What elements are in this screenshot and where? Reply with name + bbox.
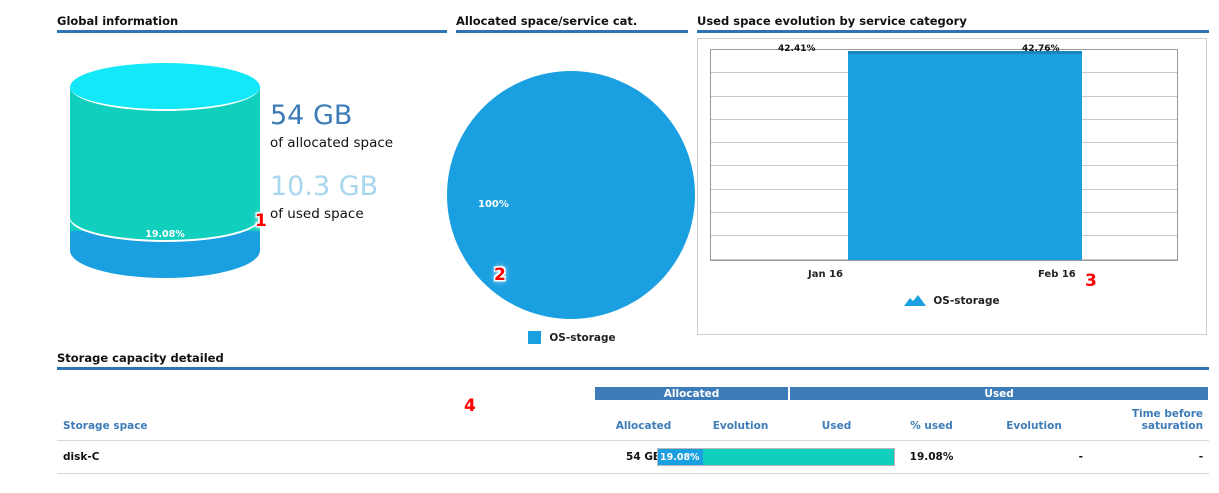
annotation-marker-4: 4 bbox=[464, 396, 476, 416]
section-divider-evolution bbox=[697, 30, 1209, 33]
section-divider-table bbox=[57, 367, 1209, 370]
legend-swatch-icon bbox=[528, 331, 541, 344]
column-header-allocated-evolution[interactable]: Evolution bbox=[692, 400, 789, 441]
storage-capacity-table: Allocated Used Storage space Allocated E… bbox=[57, 387, 1210, 474]
area-series-os-storage bbox=[848, 51, 1082, 260]
x-axis-tick-end: Feb 16 bbox=[1038, 269, 1076, 280]
global-stats: 54 GB of allocated space 10.3 GB of used… bbox=[270, 100, 445, 224]
used-space-caption: of used space bbox=[270, 205, 445, 224]
allocated-space-value: 54 GB bbox=[270, 100, 445, 131]
pie-legend-label: OS-storage bbox=[549, 332, 615, 344]
column-header-used[interactable]: Used bbox=[789, 400, 884, 441]
cylinder-graphic: 19.08% bbox=[70, 63, 260, 263]
stats-spacer bbox=[270, 153, 445, 171]
evolution-legend[interactable]: OS-storage bbox=[698, 291, 1206, 310]
usage-bar-used: 19.08% bbox=[658, 449, 703, 465]
page-title-pie: Allocated space/service cat. bbox=[456, 14, 688, 28]
pie-legend[interactable]: OS-storage bbox=[456, 331, 688, 344]
evolution-legend-label: OS-storage bbox=[933, 295, 999, 307]
usage-bar-free bbox=[703, 449, 894, 465]
storage-capacity-table-panel: Storage capacity detailed Allocated Used… bbox=[57, 351, 1209, 474]
cylinder-top-ellipse bbox=[70, 63, 260, 111]
column-header-usage-bar bbox=[357, 400, 595, 441]
section-divider-pie bbox=[456, 30, 688, 33]
data-label-start: 42.41% bbox=[778, 44, 816, 54]
x-axis-tick-start: Jan 16 bbox=[808, 269, 843, 280]
allocated-space-pie-panel: Allocated space/service cat. 100% OS-sto… bbox=[456, 14, 688, 339]
section-divider-global bbox=[57, 30, 447, 33]
table-header-row: Storage space Allocated Evolution Used %… bbox=[57, 400, 1209, 441]
allocated-space-caption: of allocated space bbox=[270, 134, 445, 153]
evolution-chart[interactable]: 42.41% 42.76% Jan 16 Feb 16 OS-storage bbox=[697, 38, 1207, 335]
annotation-marker-3: 3 bbox=[1085, 271, 1097, 291]
cell-storage-space: disk-C bbox=[57, 441, 357, 474]
column-header-storage-space[interactable]: Storage space bbox=[57, 400, 357, 441]
annotation-marker-2: 2 bbox=[494, 265, 506, 285]
pie-slice-label: 100% bbox=[478, 199, 509, 210]
column-header-used-evolution[interactable]: Evolution bbox=[979, 400, 1089, 441]
cell-used-evolution: - bbox=[979, 441, 1089, 474]
used-space-value: 10.3 GB bbox=[270, 171, 445, 202]
area-legend-icon bbox=[904, 291, 926, 310]
page-title-evolution: Used space evolution by service category bbox=[697, 14, 1209, 28]
table-group-header-row: Allocated Used bbox=[57, 387, 1209, 400]
group-header-used: Used bbox=[789, 387, 1209, 400]
global-information-panel: Global information 19.08% 54 GB of alloc… bbox=[57, 14, 447, 285]
cell-time-before-saturation: - bbox=[1089, 441, 1209, 474]
pie-slice-os-storage[interactable] bbox=[447, 71, 695, 319]
column-header-allocated[interactable]: Allocated bbox=[595, 400, 692, 441]
cell-usage-bar: 19.08% bbox=[357, 441, 595, 474]
column-header-time-before-saturation[interactable]: Time before saturation bbox=[1089, 400, 1209, 441]
used-space-evolution-panel: Used space evolution by service category… bbox=[697, 14, 1209, 33]
page-title-global: Global information bbox=[57, 14, 447, 28]
group-header-blank bbox=[57, 387, 595, 400]
cylinder-chart[interactable]: 19.08% 54 GB of allocated space 10.3 GB … bbox=[57, 55, 447, 285]
cylinder-percent-label: 19.08% bbox=[70, 229, 260, 240]
page-title-table: Storage capacity detailed bbox=[57, 351, 1209, 365]
annotation-marker-1: 1 bbox=[255, 211, 267, 231]
cell-pct-used: 19.08% bbox=[884, 441, 979, 474]
pie-chart[interactable]: 100% OS-storage bbox=[456, 49, 688, 339]
column-header-pct-used[interactable]: % used bbox=[884, 400, 979, 441]
table-row[interactable]: disk-C 19.08% 54 GB - 10.3 GB 19.08% - - bbox=[57, 441, 1209, 474]
usage-bar: 19.08% bbox=[657, 448, 895, 466]
data-label-end: 42.76% bbox=[1022, 44, 1060, 54]
evolution-plot-area bbox=[710, 49, 1178, 261]
group-header-allocated: Allocated bbox=[595, 387, 789, 400]
